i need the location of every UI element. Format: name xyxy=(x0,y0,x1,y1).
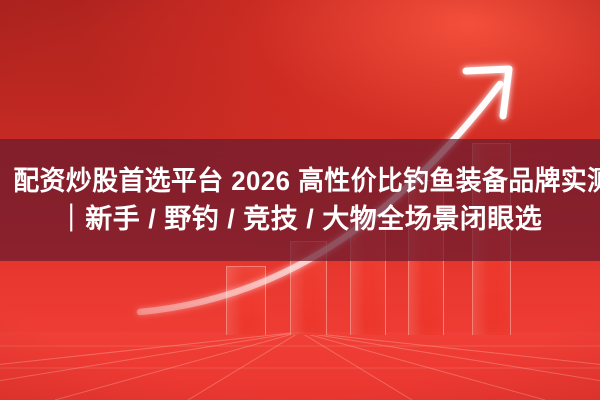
promo-banner: 配资炒股首选平台 2026 高性价比钓鱼装备品牌实测 ｜新手 / 野钓 / 竞技… xyxy=(0,0,600,400)
headline-band: 配资炒股首选平台 2026 高性价比钓鱼装备品牌实测 ｜新手 / 野钓 / 竞技… xyxy=(0,139,600,261)
headline-line-2: ｜新手 / 野钓 / 竞技 / 大物全场景闭眼选 xyxy=(0,200,600,238)
headline-line-1: 配资炒股首选平台 2026 高性价比钓鱼装备品牌实测 xyxy=(13,162,586,200)
